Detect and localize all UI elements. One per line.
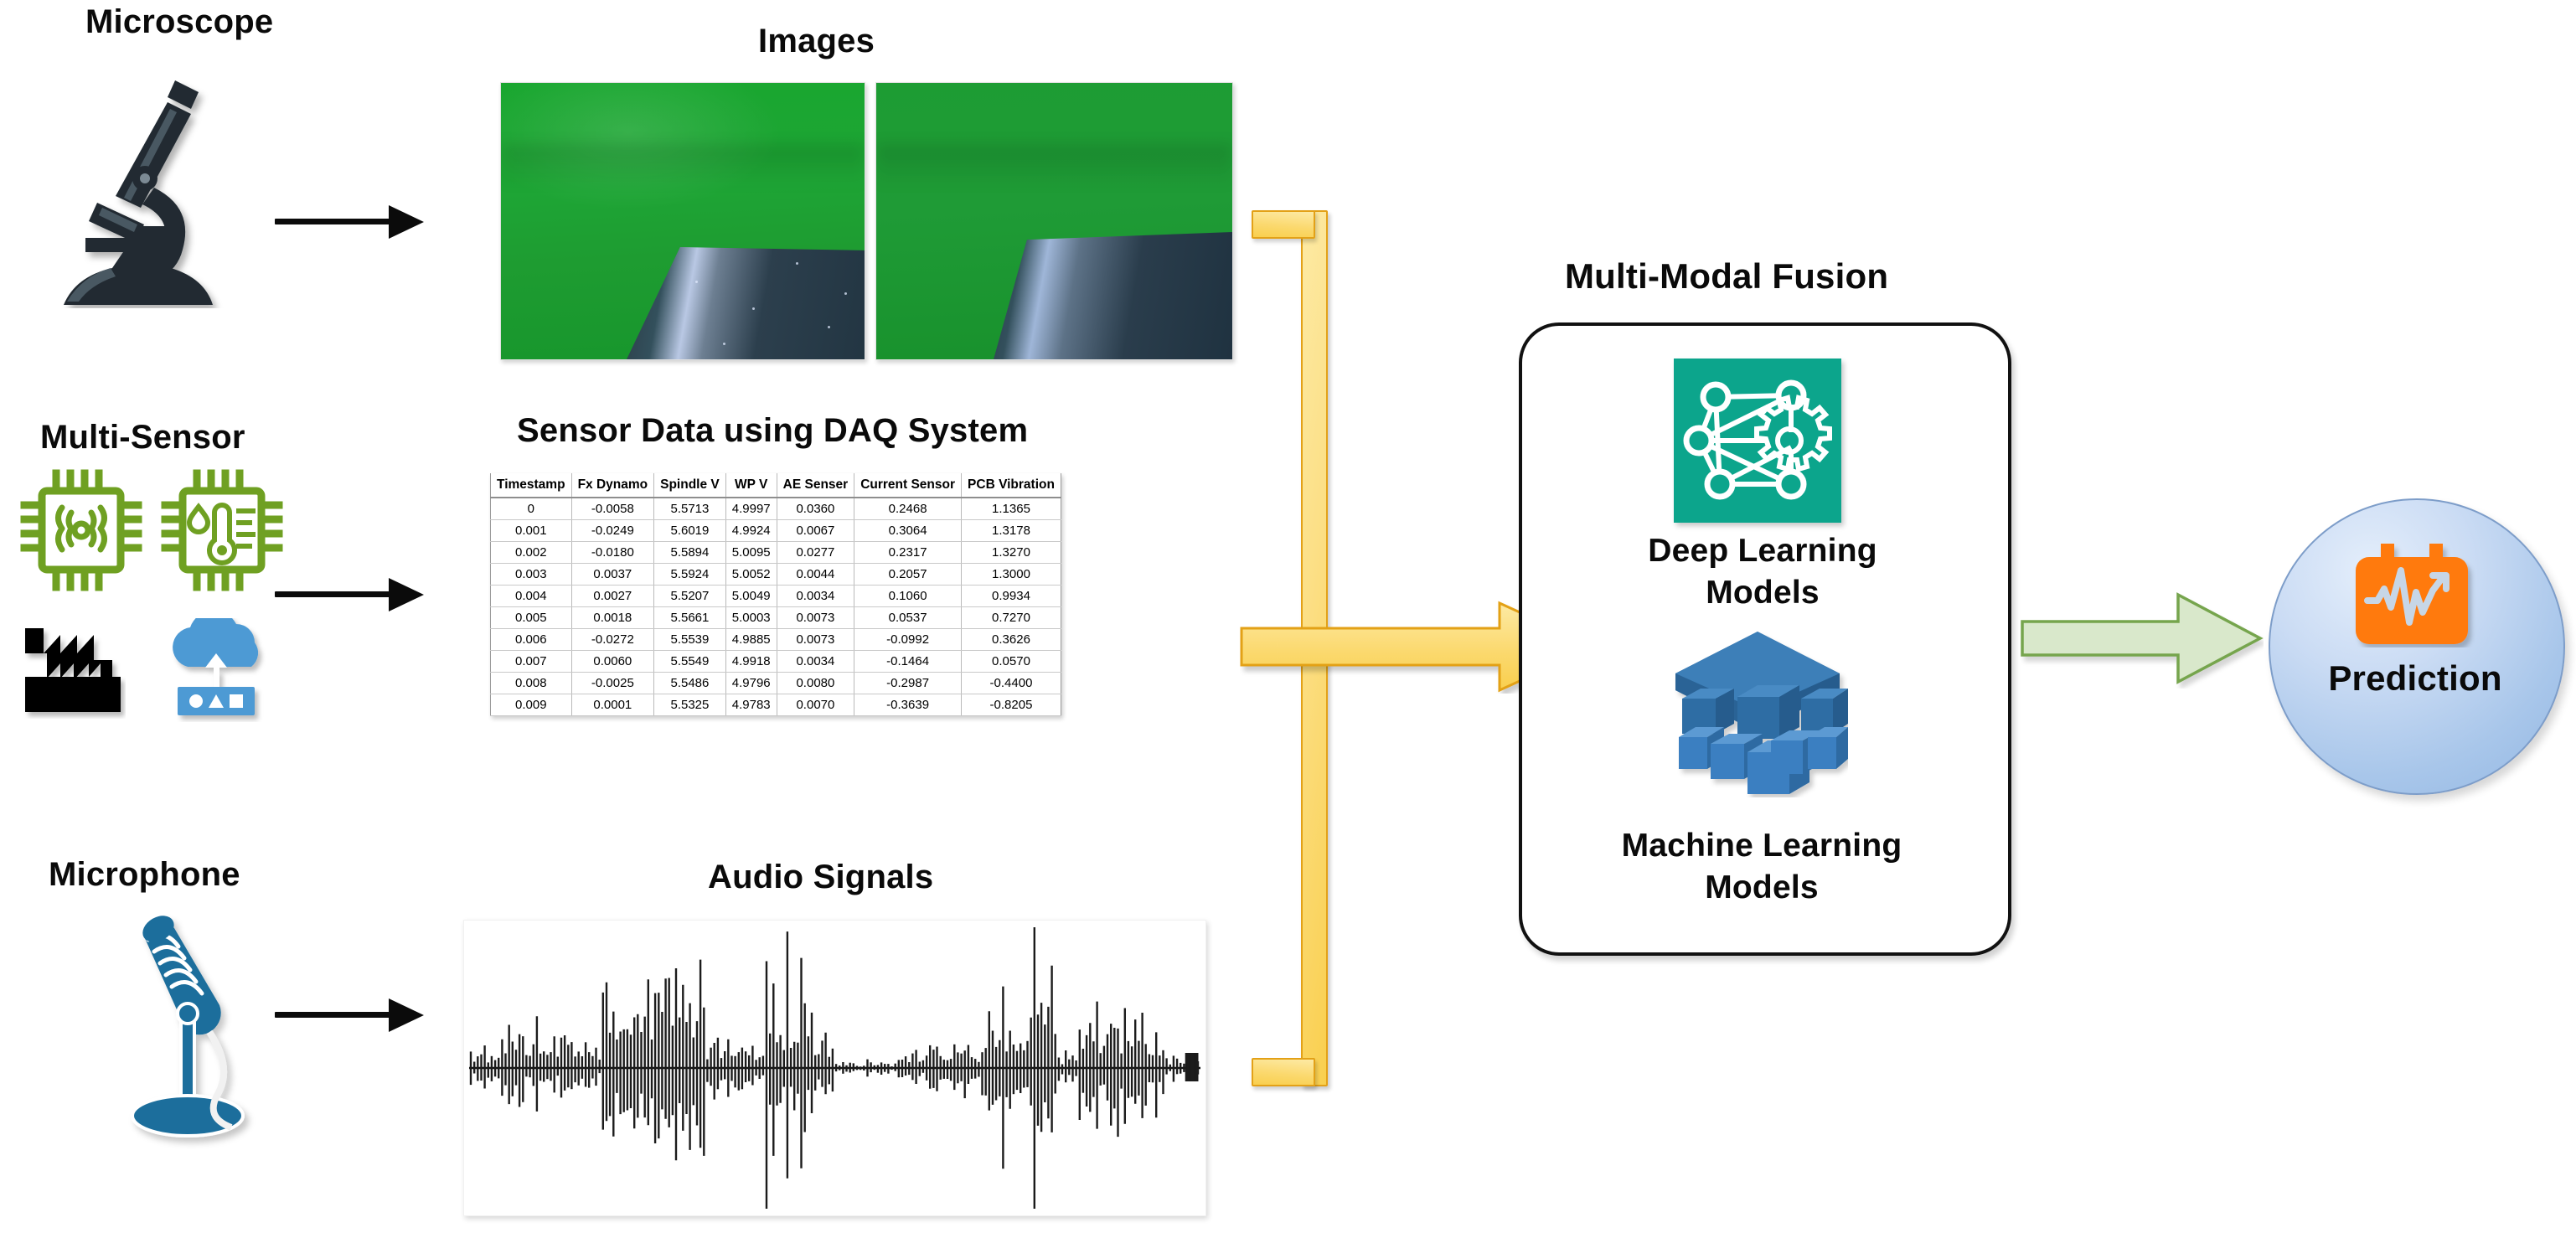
- table-cell: 0.0073: [777, 607, 854, 629]
- table-cell: 5.5207: [654, 586, 726, 607]
- table-cell: -0.0180: [571, 542, 654, 564]
- factory-icon: [20, 622, 126, 719]
- microscope-image-left: [500, 82, 865, 360]
- table-cell: 0.0044: [777, 564, 854, 586]
- table-row: 0.008-0.00255.54864.97960.0080-0.2987-0.…: [491, 673, 1061, 694]
- table-cell: 0.2317: [854, 542, 962, 564]
- table-cell: 5.0095: [725, 542, 777, 564]
- microscope-icon: [60, 74, 245, 308]
- table-cell: 5.6019: [654, 520, 726, 542]
- sensor-table-title: Sensor Data using DAQ System: [517, 412, 1028, 450]
- table-cell: 0.0277: [777, 542, 854, 564]
- table-cell: 4.9796: [725, 673, 777, 694]
- images-title: Images: [758, 23, 875, 60]
- table-cell: 0.0034: [777, 586, 854, 607]
- prediction-label: Prediction: [2269, 658, 2562, 699]
- table-row: 0.001-0.02495.60194.99240.00670.30641.31…: [491, 520, 1061, 542]
- table-row: 0-0.00585.57134.99970.03600.24681.1365: [491, 498, 1061, 520]
- table-cell: 5.5325: [654, 694, 726, 716]
- table-cell: 5.5539: [654, 629, 726, 651]
- deep-learning-label-line1: Deep Learning: [1629, 533, 1897, 570]
- microphone-icon: [101, 906, 285, 1149]
- table-cell: 4.9885: [725, 629, 777, 651]
- forecast-chart-icon: [2352, 540, 2478, 647]
- table-row: 0.0090.00015.53254.97830.0070-0.3639-0.8…: [491, 694, 1061, 716]
- table-cell: 4.9783: [725, 694, 777, 716]
- table-cell: 0.003: [491, 564, 572, 586]
- table-cell: 4.9997: [725, 498, 777, 520]
- table-cell: 0.0073: [777, 629, 854, 651]
- table-cell: 0.009: [491, 694, 572, 716]
- table-cell: 5.5549: [654, 651, 726, 673]
- table-row: 0.0050.00185.56615.00030.00730.05370.727…: [491, 607, 1061, 629]
- vibration-sensor-chip-icon: [18, 467, 144, 593]
- table-cell: -0.0058: [571, 498, 654, 520]
- cloud-iot-gateway-icon: [156, 618, 281, 722]
- table-cell: 0.0034: [777, 651, 854, 673]
- microscope-image-right: VB VB VB VB: [875, 82, 1233, 360]
- table-cell: 0.002: [491, 542, 572, 564]
- source-label-microscope: Microscope: [85, 3, 273, 41]
- table-col-header: PCB Vibration: [962, 473, 1061, 498]
- table-col-header: WP V: [725, 473, 777, 498]
- table-cell: 1.3178: [962, 520, 1061, 542]
- table-cell: 0.2468: [854, 498, 962, 520]
- table-cell: 0.0360: [777, 498, 854, 520]
- fusion-title: Multi-Modal Fusion: [1565, 256, 1888, 297]
- table-cell: 0.0537: [854, 607, 962, 629]
- table-cell: 1.3000: [962, 564, 1061, 586]
- fusion-collector-stub-top: [1252, 210, 1315, 239]
- audio-title: Audio Signals: [708, 859, 933, 896]
- table-cell: 1.1365: [962, 498, 1061, 520]
- table-cell: 0.005: [491, 607, 572, 629]
- table-cell: 0: [491, 498, 572, 520]
- machine-learning-label-line1: Machine Learning: [1586, 828, 1938, 864]
- table-cell: 0.7270: [962, 607, 1061, 629]
- sensor-data-table: TimestampFx DynamoSpindle VWP VAE Senser…: [490, 473, 1061, 716]
- table-cell: 0.1060: [854, 586, 962, 607]
- audio-waveform: [464, 921, 1205, 1215]
- table-cell: 5.0003: [725, 607, 777, 629]
- table-row: 0.0030.00375.59245.00520.00440.20571.300…: [491, 564, 1061, 586]
- table-cell: 0.0037: [571, 564, 654, 586]
- table-cell: 4.9924: [725, 520, 777, 542]
- table-cell: 0.007: [491, 651, 572, 673]
- table-col-header: Current Sensor: [854, 473, 962, 498]
- deep-learning-label-line2: Models: [1629, 575, 1897, 611]
- sensor-data-table-wrap: TimestampFx DynamoSpindle VWP VAE Senser…: [490, 473, 1061, 716]
- table-cell: -0.3639: [854, 694, 962, 716]
- temperature-humidity-sensor-chip-icon: [159, 467, 285, 593]
- source-label-microphone: Microphone: [49, 856, 240, 894]
- table-cell: 0.004: [491, 586, 572, 607]
- table-header-row: TimestampFx DynamoSpindle VWP VAE Senser…: [491, 473, 1061, 498]
- arrow-microphone-to-audio: [275, 998, 424, 1032]
- fusion-collector-stub-bottom: [1252, 1058, 1315, 1086]
- table-cell: 0.0067: [777, 520, 854, 542]
- table-cell: 5.0049: [725, 586, 777, 607]
- audio-waveform-card: [463, 920, 1206, 1216]
- table-cell: 5.5661: [654, 607, 726, 629]
- table-cell: 1.3270: [962, 542, 1061, 564]
- table-cell: 0.2057: [854, 564, 962, 586]
- table-cell: 0.3064: [854, 520, 962, 542]
- table-row: 0.0040.00275.52075.00490.00340.10600.993…: [491, 586, 1061, 607]
- table-cell: 0.0060: [571, 651, 654, 673]
- table-cell: 0.0070: [777, 694, 854, 716]
- table-col-header: Spindle V: [654, 473, 726, 498]
- table-cell: 0.9934: [962, 586, 1061, 607]
- neural-network-gear-icon: [1674, 359, 1841, 523]
- arrow-fusion-to-prediction: [2021, 588, 2264, 689]
- table-col-header: Timestamp: [491, 473, 572, 498]
- table-row: 0.006-0.02725.55394.98850.0073-0.09920.3…: [491, 629, 1061, 651]
- table-cell: 5.5894: [654, 542, 726, 564]
- table-col-header: AE Senser: [777, 473, 854, 498]
- table-cell: 5.5713: [654, 498, 726, 520]
- table-cell: -0.0025: [571, 673, 654, 694]
- table-cell: -0.2987: [854, 673, 962, 694]
- arrow-microscope-to-images: [275, 205, 424, 239]
- table-cell: 0.008: [491, 673, 572, 694]
- table-cell: 0.0018: [571, 607, 654, 629]
- source-label-multi-sensor: Multi-Sensor: [40, 419, 245, 457]
- table-cell: 0.0027: [571, 586, 654, 607]
- table-cell: 4.9918: [725, 651, 777, 673]
- table-col-header: Fx Dynamo: [571, 473, 654, 498]
- table-cell: 0.3626: [962, 629, 1061, 651]
- table-row: 0.0070.00605.55494.99180.0034-0.14640.05…: [491, 651, 1061, 673]
- stacked-cubes-icon: [1667, 630, 1848, 797]
- table-cell: 0.0001: [571, 694, 654, 716]
- table-cell: -0.4400: [962, 673, 1061, 694]
- table-cell: -0.0272: [571, 629, 654, 651]
- table-cell: 5.0052: [725, 564, 777, 586]
- table-cell: -0.0249: [571, 520, 654, 542]
- table-cell: 0.0080: [777, 673, 854, 694]
- table-cell: -0.8205: [962, 694, 1061, 716]
- table-cell: 0.006: [491, 629, 572, 651]
- table-cell: 0.0570: [962, 651, 1061, 673]
- table-cell: -0.0992: [854, 629, 962, 651]
- table-cell: 5.5924: [654, 564, 726, 586]
- arrow-sensor-to-table: [275, 578, 424, 611]
- table-cell: -0.1464: [854, 651, 962, 673]
- machine-learning-label-line2: Models: [1586, 869, 1938, 906]
- table-row: 0.002-0.01805.58945.00950.02770.23171.32…: [491, 542, 1061, 564]
- table-cell: 0.001: [491, 520, 572, 542]
- table-cell: 5.5486: [654, 673, 726, 694]
